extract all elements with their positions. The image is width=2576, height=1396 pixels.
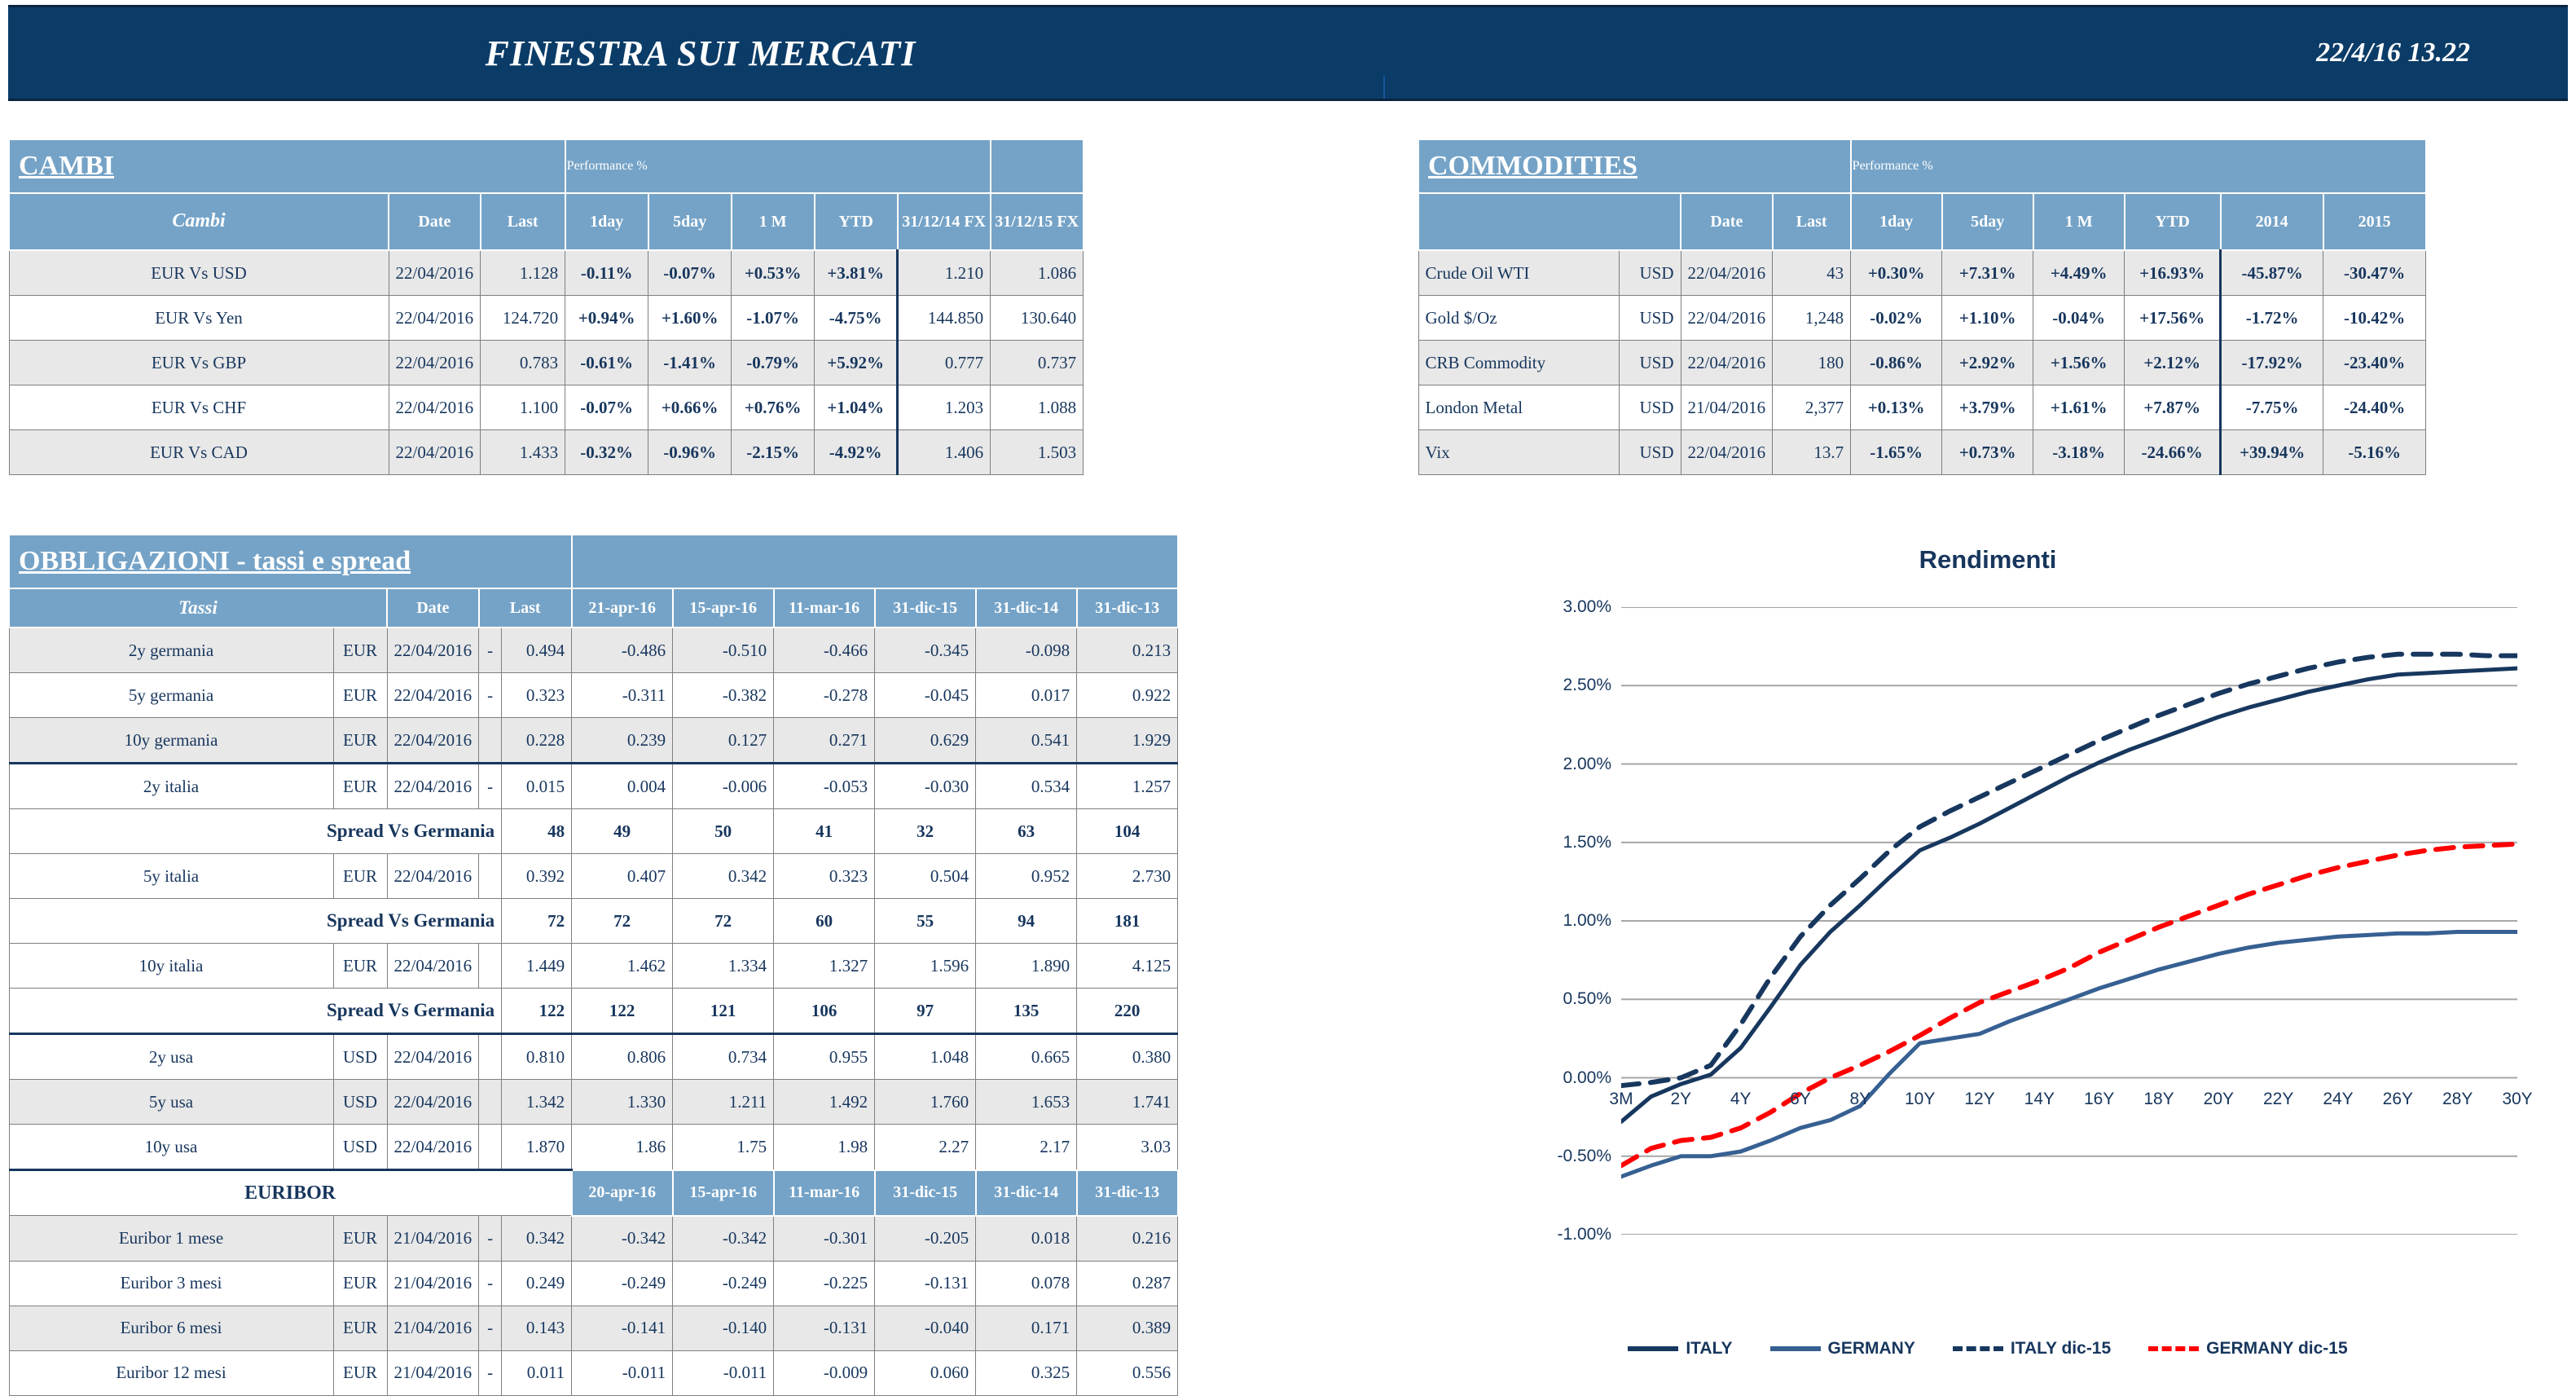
- table-row: 5y italiaEUR22/04/20160.3920.4070.3420.3…: [9, 854, 1178, 899]
- header-divider: [1383, 76, 1385, 99]
- euribor-row-c2-2: -0.140: [673, 1306, 774, 1350]
- obbl-row-c5-5: 0.952: [976, 854, 1077, 899]
- obbl-row-c5-11: 2.17: [976, 1125, 1077, 1170]
- euribor-row-name-0: Euribor 1 mese: [9, 1216, 333, 1262]
- obbl-col-c3: 11-mar-16: [774, 588, 875, 628]
- obbl-spread-c1-6: 72: [572, 899, 673, 944]
- euribor-row-c5-0: 0.018: [976, 1216, 1077, 1262]
- commodities-col-last: Last: [1773, 193, 1851, 250]
- x-axis-tick: 30Y: [2502, 1090, 2532, 1109]
- obbl-row-c3-10: 1.492: [774, 1080, 875, 1125]
- table-row: 10y germaniaEUR22/04/20160.2280.2390.127…: [9, 718, 1178, 764]
- x-axis-tick: 3M: [1609, 1090, 1633, 1109]
- commodity-row-2015-2: -23.40%: [2323, 341, 2426, 385]
- table-row: VixUSD22/04/201613.7-1.65%+0.73%-3.18%-2…: [1418, 430, 2426, 475]
- cambi-row-ytd-2: +5.92%: [815, 341, 898, 385]
- euribor-col-c6: 31-dic-13: [1077, 1170, 1178, 1216]
- commodities-header-row: Date Last 1day 5day 1 M YTD 2014 2015: [1418, 193, 2426, 250]
- cambi-row-5day-4: -0.96%: [648, 430, 732, 475]
- commodity-row-name-3: London Metal: [1418, 385, 1619, 430]
- legend-label: GERMANY: [1828, 1339, 1915, 1359]
- euribor-row-sign-1: -: [479, 1261, 502, 1306]
- obbl-row-c4-11: 2.27: [875, 1125, 976, 1170]
- cambi-row-name-2: EUR Vs GBP: [9, 341, 389, 385]
- commodity-row-1day-3: +0.13%: [1851, 385, 1942, 430]
- obbl-row-c5-7: 1.890: [976, 944, 1077, 989]
- table-row: EUR Vs CHF22/04/20161.100-0.07%+0.66%+0.…: [9, 385, 1084, 430]
- commodity-row-ytd-1: +17.56%: [2125, 296, 2221, 341]
- obbl-row-c3-7: 1.327: [774, 944, 875, 989]
- obbl-row-date-3: 22/04/2016: [387, 764, 479, 809]
- obbligazioni-title-cell: OBBLIGAZIONI - tassi e spread: [9, 535, 572, 588]
- commodity-row-5day-4: +0.73%: [1942, 430, 2033, 475]
- euribor-row: Euribor 1 meseEUR21/04/2016-0.342-0.342-…: [9, 1216, 1178, 1262]
- obbl-row-last-0: 0.494: [502, 628, 572, 673]
- euribor-row: Euribor 6 mesiEUR21/04/2016-0.143-0.141-…: [9, 1306, 1178, 1350]
- euribor-row-c5-3: 0.325: [976, 1350, 1077, 1395]
- commodity-row-name-1: Gold $/Oz: [1418, 296, 1619, 341]
- commodity-row-last-2: 180: [1773, 341, 1851, 385]
- obbl-row-date-9: 22/04/2016: [387, 1034, 479, 1080]
- page-title: FINESTRA SUI MERCATI: [8, 7, 1393, 99]
- obbl-row-date-10: 22/04/2016: [387, 1080, 479, 1125]
- table-row: EUR Vs GBP22/04/20160.783-0.61%-1.41%-0.…: [9, 341, 1084, 385]
- spread-row: Spread Vs Germania12212212110697135220: [9, 989, 1178, 1034]
- cambi-row-5day-3: +0.66%: [648, 385, 732, 430]
- obbl-row-c6-2: 1.929: [1077, 718, 1178, 764]
- euribor-row-name-2: Euribor 6 mesi: [9, 1306, 333, 1350]
- obbl-spread-last-4: 48: [502, 809, 572, 854]
- euribor-row-c2-1: -0.249: [673, 1261, 774, 1306]
- commodity-row-2014-4: +39.94%: [2221, 430, 2323, 475]
- obbl-row-c3-0: -0.466: [774, 628, 875, 673]
- euribor-title: EURIBOR: [9, 1170, 572, 1216]
- obbl-row-name-5: 5y italia: [9, 854, 333, 899]
- cambi-header-row: Cambi Date Last 1day 5day 1 M YTD 31/12/…: [9, 193, 1084, 250]
- x-axis-tick: 6Y: [1790, 1090, 1811, 1109]
- x-axis-tick: 14Y: [2024, 1090, 2055, 1109]
- obbl-row-c3-3: -0.053: [774, 764, 875, 809]
- cambi-row-date-3: 22/04/2016: [389, 385, 481, 430]
- obbligazioni-panel: OBBLIGAZIONI - tassi e spread Tassi Date…: [8, 534, 1179, 1396]
- commodity-row-ccy-2: USD: [1619, 341, 1681, 385]
- table-row: 2y italiaEUR22/04/2016-0.0150.004-0.006-…: [9, 764, 1178, 809]
- cambi-col-date: Date: [389, 193, 481, 250]
- y-axis-tick: 1.00%: [1563, 911, 1611, 931]
- x-axis-tick: 18Y: [2143, 1090, 2174, 1109]
- euribor-row-c1-3: -0.011: [572, 1350, 673, 1395]
- euribor-col-c1: 20-apr-16: [572, 1170, 673, 1216]
- obbl-spread-c6-4: 104: [1077, 809, 1178, 854]
- obbl-row-c6-0: 0.213: [1077, 628, 1178, 673]
- table-row: Crude Oil WTIUSD22/04/201643+0.30%+7.31%…: [1418, 250, 2426, 296]
- commodities-title: COMMODITIES: [1420, 151, 1637, 181]
- x-axis-tick: 2Y: [1670, 1090, 1691, 1109]
- table-row: 10y italiaEUR22/04/20161.4491.4621.3341.…: [9, 944, 1178, 989]
- cambi-row-date-1: 22/04/2016: [389, 296, 481, 341]
- cambi-row-1day-0: -0.11%: [565, 250, 648, 296]
- commodity-row-date-0: 22/04/2016: [1681, 250, 1773, 296]
- obbl-col-last: Last: [479, 588, 572, 628]
- obbl-row-c4-0: -0.345: [875, 628, 976, 673]
- table-row: 2y usaUSD22/04/20160.8100.8060.7340.9551…: [9, 1034, 1178, 1080]
- table-row: CRB CommodityUSD22/04/2016180-0.86%+2.92…: [1418, 341, 2426, 385]
- euribor-row-c6-2: 0.389: [1077, 1306, 1178, 1350]
- obbl-col-c5: 31-dic-14: [976, 588, 1077, 628]
- cambi-row-date-0: 22/04/2016: [389, 250, 481, 296]
- obbl-row-c5-2: 0.541: [976, 718, 1077, 764]
- cambi-row-fx14-1: 144.850: [898, 296, 991, 341]
- cambi-title: CAMBI: [11, 151, 114, 181]
- commodity-row-1day-2: -0.86%: [1851, 341, 1942, 385]
- euribor-row-c6-1: 0.287: [1077, 1261, 1178, 1306]
- commodity-row-1m-4: -3.18%: [2033, 430, 2125, 475]
- legend-swatch: [1953, 1346, 2003, 1351]
- euribor-row-c4-1: -0.131: [875, 1261, 976, 1306]
- obbl-col-date: Date: [387, 588, 479, 628]
- obbl-row-ccy-11: USD: [333, 1125, 387, 1170]
- cambi-row-1m-4: -2.15%: [732, 430, 815, 475]
- obbl-row-ccy-9: USD: [333, 1034, 387, 1080]
- obbl-col-c6: 31-dic-13: [1077, 588, 1178, 628]
- commodity-row-ytd-3: +7.87%: [2125, 385, 2221, 430]
- obbl-row-c5-3: 0.534: [976, 764, 1077, 809]
- cambi-row-1day-4: -0.32%: [565, 430, 648, 475]
- commodity-row-1day-1: -0.02%: [1851, 296, 1942, 341]
- cambi-row-fx15-0: 1.086: [991, 250, 1084, 296]
- cambi-panel: CAMBI Performance % Cambi Date Last 1day…: [8, 139, 1084, 475]
- cambi-row-name-0: EUR Vs USD: [9, 250, 389, 296]
- legend-swatch: [1770, 1346, 1821, 1351]
- legend-item: ITALY dic-15: [1953, 1339, 2111, 1359]
- obbl-spread-c6-6: 181: [1077, 899, 1178, 944]
- obbl-row-c4-1: -0.045: [875, 673, 976, 718]
- obbl-spread-c3-4: 41: [774, 809, 875, 854]
- obbl-spread-c2-8: 121: [673, 989, 774, 1034]
- cambi-row-1m-3: +0.76%: [732, 385, 815, 430]
- obbligazioni-header-row: Tassi Date Last 21-apr-16 15-apr-16 11-m…: [9, 588, 1178, 628]
- obbl-row-c5-9: 0.665: [976, 1034, 1077, 1080]
- euribor-row-sign-2: -: [479, 1306, 502, 1350]
- table-row: EUR Vs USD22/04/20161.128-0.11%-0.07%+0.…: [9, 250, 1084, 296]
- cambi-row-1m-1: -1.07%: [732, 296, 815, 341]
- table-row: 5y usaUSD22/04/20161.3421.3301.2111.4921…: [9, 1080, 1178, 1125]
- euribor-col-c2: 15-apr-16: [673, 1170, 774, 1216]
- cambi-row-5day-2: -1.41%: [648, 341, 732, 385]
- cambi-row-date-4: 22/04/2016: [389, 430, 481, 475]
- cambi-row-name-1: EUR Vs Yen: [9, 296, 389, 341]
- obbl-row-ccy-2: EUR: [333, 718, 387, 764]
- cambi-row-fx15-3: 1.088: [991, 385, 1084, 430]
- euribor-row-c3-2: -0.131: [774, 1306, 875, 1350]
- x-axis-tick: 20Y: [2204, 1090, 2234, 1109]
- app-header: FINESTRA SUI MERCATI 22/4/16 13.22: [8, 5, 2568, 101]
- cambi-row-fx14-3: 1.203: [898, 385, 991, 430]
- obbl-row-c6-9: 0.380: [1077, 1034, 1178, 1080]
- cambi-row-fx14-0: 1.210: [898, 250, 991, 296]
- euribor-row-c5-2: 0.171: [976, 1306, 1077, 1350]
- obbl-row-last-11: 1.870: [502, 1125, 572, 1170]
- obbl-spread-last-6: 72: [502, 899, 572, 944]
- table-row: EUR Vs CAD22/04/20161.433-0.32%-0.96%-2.…: [9, 430, 1084, 475]
- obbl-spread-c2-6: 72: [673, 899, 774, 944]
- euribor-row-c4-0: -0.205: [875, 1216, 976, 1262]
- euribor-row: Euribor 12 mesiEUR21/04/2016-0.011-0.011…: [9, 1350, 1178, 1395]
- cambi-row-5day-1: +1.60%: [648, 296, 732, 341]
- obbl-spread-c4-6: 55: [875, 899, 976, 944]
- obbl-spread-c3-6: 60: [774, 899, 875, 944]
- y-axis-tick: 0.00%: [1563, 1068, 1611, 1088]
- obbl-row-c6-5: 2.730: [1077, 854, 1178, 899]
- x-axis-tick: 22Y: [2263, 1090, 2293, 1109]
- euribor-row-c3-0: -0.301: [774, 1216, 875, 1262]
- commodity-row-last-1: 1,248: [1773, 296, 1851, 341]
- obbl-row-ccy-0: EUR: [333, 628, 387, 673]
- commodity-row-2015-3: -24.40%: [2323, 385, 2426, 430]
- commodities-performance-title: Performance %: [1851, 139, 2426, 193]
- cambi-row-1m-2: -0.79%: [732, 341, 815, 385]
- euribor-row-c6-3: 0.556: [1077, 1350, 1178, 1395]
- cambi-banner-row: CAMBI Performance %: [9, 139, 1084, 193]
- euribor-row-c3-3: -0.009: [774, 1350, 875, 1395]
- obbl-row-c3-5: 0.323: [774, 854, 875, 899]
- obbl-spread-c4-8: 97: [875, 989, 976, 1034]
- legend-label: GERMANY dic-15: [2206, 1339, 2348, 1359]
- obbl-row-c1-11: 1.86: [572, 1125, 673, 1170]
- obbl-row-c2-10: 1.211: [673, 1080, 774, 1125]
- obbl-row-c1-5: 0.407: [572, 854, 673, 899]
- cambi-row-1day-1: +0.94%: [565, 296, 648, 341]
- commodities-col-1day: 1day: [1851, 193, 1942, 250]
- cambi-row-name-3: EUR Vs CHF: [9, 385, 389, 430]
- x-axis-tick: 24Y: [2323, 1090, 2353, 1109]
- commodity-row-5day-0: +7.31%: [1942, 250, 2033, 296]
- commodity-row-last-3: 2,377: [1773, 385, 1851, 430]
- obbl-row-date-7: 22/04/2016: [387, 944, 479, 989]
- euribor-row-ccy-1: EUR: [333, 1261, 387, 1306]
- commodity-row-2015-0: -30.47%: [2323, 250, 2426, 296]
- commodity-row-1m-2: +1.56%: [2033, 341, 2125, 385]
- commodity-row-1m-0: +4.49%: [2033, 250, 2125, 296]
- rendimenti-chart: Rendimenti 3.00%2.50%2.00%1.50%1.00%0.50…: [1418, 534, 2558, 1381]
- cambi-col-1day: 1day: [565, 193, 648, 250]
- commodity-row-date-3: 21/04/2016: [1681, 385, 1773, 430]
- cambi-row-last-4: 1.433: [481, 430, 565, 475]
- obbl-spread-label-4: Spread Vs Germania: [9, 809, 502, 854]
- commodity-row-ccy-3: USD: [1619, 385, 1681, 430]
- commodity-row-1day-4: -1.65%: [1851, 430, 1942, 475]
- commodity-row-name-0: Crude Oil WTI: [1418, 250, 1619, 296]
- commodities-col-1m: 1 M: [2033, 193, 2125, 250]
- obbl-row-c4-5: 0.504: [875, 854, 976, 899]
- cambi-col-fx15: 31/12/15 FX: [991, 193, 1084, 250]
- obbl-row-date-11: 22/04/2016: [387, 1125, 479, 1170]
- obbl-row-c3-11: 1.98: [774, 1125, 875, 1170]
- obbl-row-ccy-10: USD: [333, 1080, 387, 1125]
- cambi-row-fx15-2: 0.737: [991, 341, 1084, 385]
- obbl-spread-last-8: 122: [502, 989, 572, 1034]
- obbl-row-c3-9: 0.955: [774, 1034, 875, 1080]
- obbl-row-name-3: 2y italia: [9, 764, 333, 809]
- y-axis-tick: 2.50%: [1563, 676, 1611, 695]
- obbl-spread-c3-8: 106: [774, 989, 875, 1034]
- cambi-row-ytd-3: +1.04%: [815, 385, 898, 430]
- obbl-row-date-5: 22/04/2016: [387, 854, 479, 899]
- obbl-row-c1-9: 0.806: [572, 1034, 673, 1080]
- obbl-row-ccy-7: EUR: [333, 944, 387, 989]
- y-axis-tick: 2.00%: [1563, 755, 1611, 774]
- obbl-row-c4-2: 0.629: [875, 718, 976, 764]
- euribor-row-ccy-2: EUR: [333, 1306, 387, 1350]
- commodity-row-date-2: 22/04/2016: [1681, 341, 1773, 385]
- cambi-col-cambi: Cambi: [9, 193, 389, 250]
- euribor-row-c5-1: 0.078: [976, 1261, 1077, 1306]
- euribor-row-last-1: 0.249: [502, 1261, 572, 1306]
- obbl-row-c2-5: 0.342: [673, 854, 774, 899]
- euribor-row-last-0: 0.342: [502, 1216, 572, 1262]
- euribor-row-name-3: Euribor 12 mesi: [9, 1350, 333, 1395]
- obbl-row-c6-3: 1.257: [1077, 764, 1178, 809]
- obbl-row-c2-11: 1.75: [673, 1125, 774, 1170]
- euribor-col-c4: 31-dic-15: [875, 1170, 976, 1216]
- cambi-row-last-0: 1.128: [481, 250, 565, 296]
- cambi-row-1day-2: -0.61%: [565, 341, 648, 385]
- cambi-row-fx15-1: 130.640: [991, 296, 1084, 341]
- cambi-row-last-2: 0.783: [481, 341, 565, 385]
- obbl-row-last-10: 1.342: [502, 1080, 572, 1125]
- obbl-row-last-5: 0.392: [502, 854, 572, 899]
- euribor-row-c3-1: -0.225: [774, 1261, 875, 1306]
- obbl-row-name-0: 2y germania: [9, 628, 333, 673]
- obbl-row-c4-9: 1.048: [875, 1034, 976, 1080]
- euribor-row-c1-0: -0.342: [572, 1216, 673, 1262]
- obbl-row-c2-2: 0.127: [673, 718, 774, 764]
- commodity-row-5day-1: +1.10%: [1942, 296, 2033, 341]
- cambi-row-fx15-4: 1.503: [991, 430, 1084, 475]
- commodity-row-ccy-1: USD: [1619, 296, 1681, 341]
- euribor-header-row: EURIBOR 20-apr-16 15-apr-16 11-mar-16 31…: [9, 1170, 1178, 1216]
- commodity-row-ytd-0: +16.93%: [2125, 250, 2221, 296]
- spread-row: Spread Vs Germania727272605594181: [9, 899, 1178, 944]
- obbl-row-sign-5: [479, 854, 502, 899]
- euribor-row-name-1: Euribor 3 mesi: [9, 1261, 333, 1306]
- cambi-col-ytd: YTD: [815, 193, 898, 250]
- obbl-row-name-7: 10y italia: [9, 944, 333, 989]
- obbl-row-c2-1: -0.382: [673, 673, 774, 718]
- commodity-row-1m-1: -0.04%: [2033, 296, 2125, 341]
- euribor-row-date-0: 21/04/2016: [387, 1216, 479, 1262]
- table-row: Gold $/OzUSD22/04/20161,248-0.02%+1.10%-…: [1418, 296, 2426, 341]
- legend-item: GERMANY: [1770, 1339, 1915, 1359]
- commodities-col-ytd: YTD: [2125, 193, 2221, 250]
- euribor-row-date-2: 21/04/2016: [387, 1306, 479, 1350]
- obbl-row-sign-1: -: [479, 673, 502, 718]
- commodity-row-1m-3: +1.61%: [2033, 385, 2125, 430]
- obbl-row-sign-2: [479, 718, 502, 764]
- obbl-row-c1-2: 0.239: [572, 718, 673, 764]
- obbl-row-date-1: 22/04/2016: [387, 673, 479, 718]
- obbl-row-c6-11: 3.03: [1077, 1125, 1178, 1170]
- obbl-col-c4: 31-dic-15: [875, 588, 976, 628]
- chart-y-axis: 3.00%2.50%2.00%1.50%1.00%0.50%0.00%-0.50…: [1491, 607, 1611, 1235]
- legend-swatch: [1628, 1346, 1678, 1351]
- obbl-row-c5-1: 0.017: [976, 673, 1077, 718]
- obbl-spread-c5-8: 135: [976, 989, 1077, 1034]
- obbl-row-sign-9: [479, 1034, 502, 1080]
- commodity-row-date-1: 22/04/2016: [1681, 296, 1773, 341]
- euribor-col-c3: 11-mar-16: [774, 1170, 875, 1216]
- obbl-row-ccy-1: EUR: [333, 673, 387, 718]
- x-axis-tick: 10Y: [1905, 1090, 1935, 1109]
- obbl-row-name-9: 2y usa: [9, 1034, 333, 1080]
- y-axis-tick: -0.50%: [1557, 1147, 1611, 1166]
- commodity-row-name-2: CRB Commodity: [1418, 341, 1619, 385]
- obbl-row-date-2: 22/04/2016: [387, 718, 479, 764]
- obbl-row-name-11: 10y usa: [9, 1125, 333, 1170]
- commodity-row-date-4: 22/04/2016: [1681, 430, 1773, 475]
- euribor-row-sign-0: -: [479, 1216, 502, 1262]
- commodities-col-2014: 2014: [2221, 193, 2323, 250]
- table-row: 10y usaUSD22/04/20161.8701.861.751.982.2…: [9, 1125, 1178, 1170]
- obbl-row-sign-0: -: [479, 628, 502, 673]
- obbl-row-c1-7: 1.462: [572, 944, 673, 989]
- obbl-spread-c5-4: 63: [976, 809, 1077, 854]
- euribor-row-c4-3: 0.060: [875, 1350, 976, 1395]
- obbl-row-c5-10: 1.653: [976, 1080, 1077, 1125]
- spread-row: Spread Vs Germania484950413263104: [9, 809, 1178, 854]
- commodities-banner-row: COMMODITIES Performance %: [1418, 139, 2426, 193]
- chart-x-axis: 3M2Y4Y6Y8Y10Y12Y14Y16Y18Y20Y22Y24Y26Y28Y…: [1621, 534, 2517, 1381]
- cambi-row-fx14-2: 0.777: [898, 341, 991, 385]
- euribor-row-date-1: 21/04/2016: [387, 1261, 479, 1306]
- obbl-row-c1-10: 1.330: [572, 1080, 673, 1125]
- y-axis-tick: -1.00%: [1557, 1225, 1611, 1244]
- obbl-row-c6-10: 1.741: [1077, 1080, 1178, 1125]
- cambi-row-1m-0: +0.53%: [732, 250, 815, 296]
- obbligazioni-title: OBBLIGAZIONI - tassi e spread: [11, 546, 411, 576]
- cambi-row-fx14-4: 1.406: [898, 430, 991, 475]
- obbl-spread-c6-8: 220: [1077, 989, 1178, 1034]
- obbl-row-ccy-5: EUR: [333, 854, 387, 899]
- euribor-row-c2-3: -0.011: [673, 1350, 774, 1395]
- obbl-row-c2-7: 1.334: [673, 944, 774, 989]
- obbl-spread-c4-4: 32: [875, 809, 976, 854]
- obbl-row-sign-7: [479, 944, 502, 989]
- commodities-title-cell: COMMODITIES: [1418, 139, 1851, 193]
- commodity-row-2014-0: -45.87%: [2221, 250, 2323, 296]
- cambi-row-name-4: EUR Vs CAD: [9, 430, 389, 475]
- obbl-row-c1-0: -0.486: [572, 628, 673, 673]
- obbl-spread-label-6: Spread Vs Germania: [9, 899, 502, 944]
- x-axis-tick: 4Y: [1730, 1090, 1752, 1109]
- legend-item: ITALY: [1628, 1339, 1732, 1359]
- euribor-col-c5: 31-dic-14: [976, 1170, 1077, 1216]
- obbl-row-c4-3: -0.030: [875, 764, 976, 809]
- obbl-row-c1-1: -0.311: [572, 673, 673, 718]
- obbl-row-c3-2: 0.271: [774, 718, 875, 764]
- commodities-col-name: [1418, 193, 1681, 250]
- obbl-row-c5-0: -0.098: [976, 628, 1077, 673]
- header-timestamp: 22/4/16 13.22: [2316, 7, 2470, 99]
- obbl-row-c2-3: -0.006: [673, 764, 774, 809]
- x-axis-tick: 12Y: [1964, 1090, 1994, 1109]
- commodity-row-ytd-2: +2.12%: [2125, 341, 2221, 385]
- obbl-row-c4-7: 1.596: [875, 944, 976, 989]
- legend-label: ITALY: [1686, 1339, 1732, 1359]
- obbl-spread-c5-6: 94: [976, 899, 1077, 944]
- legend-label: ITALY dic-15: [2011, 1339, 2111, 1359]
- cambi-row-5day-0: -0.07%: [648, 250, 732, 296]
